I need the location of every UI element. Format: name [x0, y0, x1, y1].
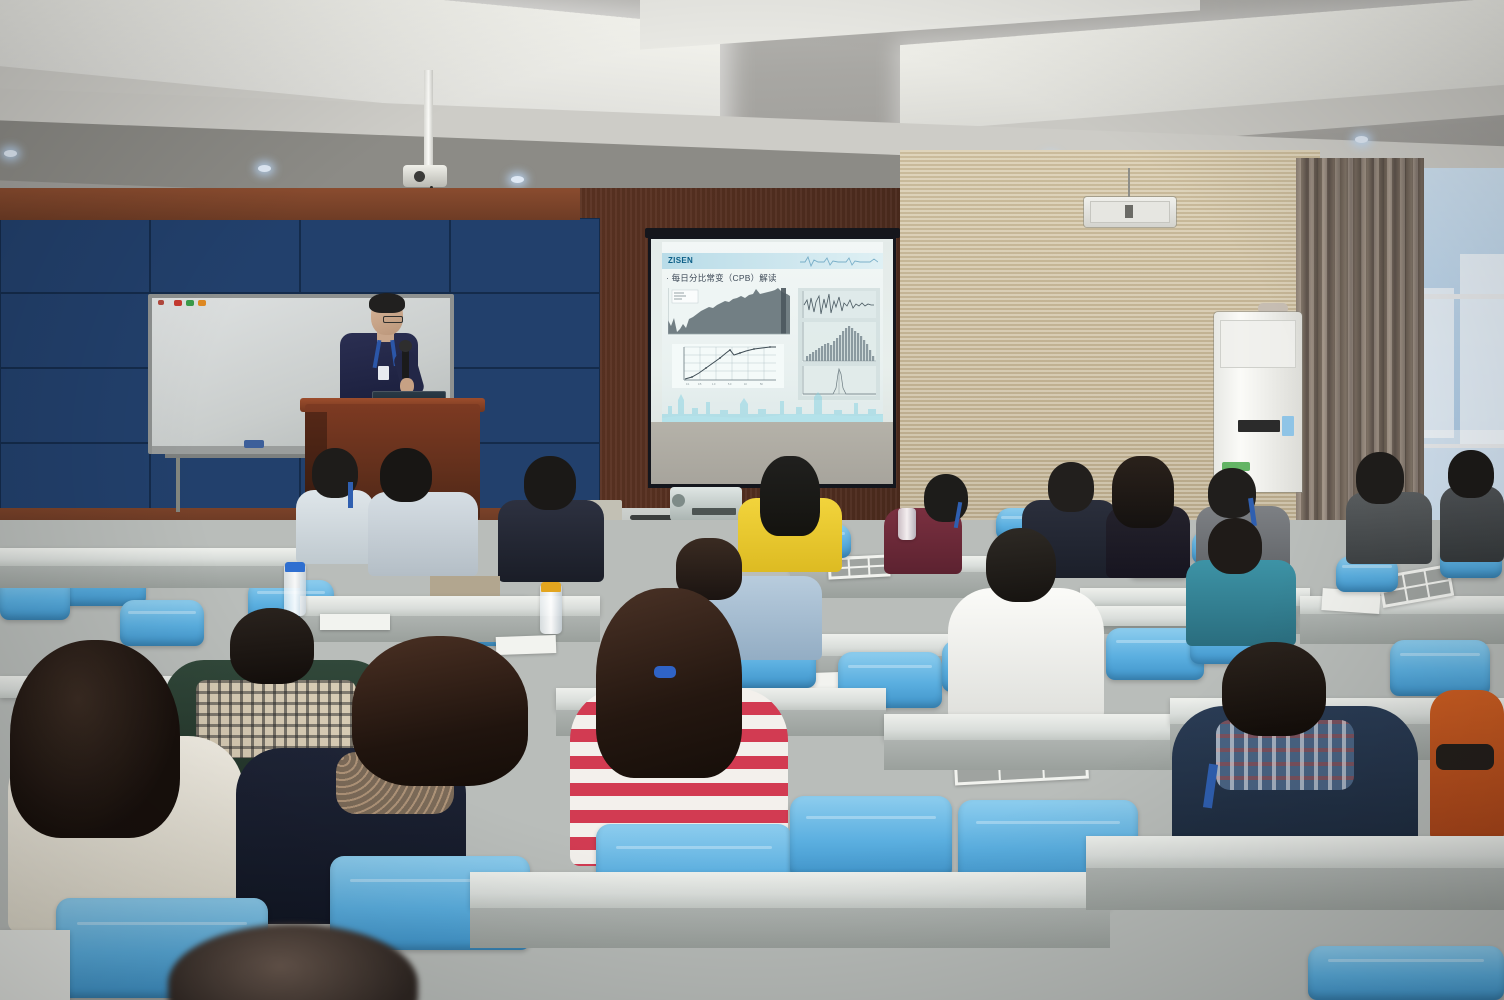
ac-vent-grille	[1220, 320, 1296, 368]
camera-lens-icon	[414, 171, 425, 182]
downlight-icon	[258, 165, 271, 172]
wall-speaker-label	[1125, 205, 1133, 218]
lanyard	[348, 482, 353, 508]
audience-member-white-polo	[948, 588, 1104, 720]
audience-head	[524, 456, 576, 510]
desk	[0, 548, 300, 566]
presenter-hair	[369, 293, 405, 313]
desk-front-panel	[1086, 868, 1504, 910]
audience-hair-long	[596, 588, 742, 778]
downlight-icon	[4, 150, 17, 157]
handout	[496, 635, 557, 655]
ac-energy-label	[1282, 416, 1294, 436]
water-bottle	[898, 508, 916, 540]
speaker-wire	[1128, 168, 1130, 198]
lecture-hall-photo: ZISEN · 每日分比常变（CPB）解读	[0, 0, 1504, 1000]
audience-hair	[760, 456, 820, 536]
audience-hair-curly	[10, 640, 180, 838]
shoulder-bag	[1436, 744, 1494, 770]
whiteboard-leg	[176, 454, 180, 512]
microphone-head-icon	[399, 340, 412, 352]
slide-skyline-graphic	[662, 388, 883, 422]
chair	[1390, 640, 1490, 696]
slide-header-waveform-icon	[800, 255, 878, 267]
projector-lens-icon	[672, 494, 685, 507]
whiteboard-eraser	[244, 440, 264, 448]
desk	[1086, 836, 1504, 868]
camera-mount-pole	[424, 70, 433, 170]
desk-front-panel	[0, 566, 300, 588]
desk	[470, 872, 1110, 908]
slide-chart-top-left	[668, 288, 790, 336]
marker-icon	[158, 300, 164, 305]
audience-head	[230, 608, 314, 684]
downlight-icon	[511, 176, 524, 183]
marker-orange-icon	[198, 300, 206, 306]
chair	[790, 796, 952, 878]
audience-hair	[1112, 456, 1174, 528]
badge	[378, 366, 389, 380]
chair	[120, 600, 204, 646]
audience-head	[986, 528, 1056, 602]
audience-head	[1208, 518, 1262, 574]
audience-head	[924, 474, 968, 522]
ceiling-camera-icon	[403, 165, 447, 187]
audience-hair	[352, 636, 528, 786]
hair-tie-icon	[654, 666, 676, 678]
marker-red-icon	[174, 300, 182, 306]
audience-head	[1048, 462, 1094, 512]
slide-chart-bottom-left: 0.10.51.0 5.01050	[672, 344, 784, 388]
desk	[884, 714, 1214, 740]
desk-front-panel	[884, 740, 1214, 770]
audience-head	[1356, 452, 1404, 504]
desk	[0, 930, 70, 1000]
audience-member-dark	[498, 500, 604, 582]
chair	[1308, 946, 1504, 1000]
audience-head	[380, 448, 432, 502]
slide-bullet-text: · 每日分比常变（CPB）解读	[666, 272, 777, 284]
audience-member-lightshirt	[368, 492, 478, 576]
bottle-cap-icon	[285, 562, 305, 572]
audience-member-lightblue	[296, 490, 374, 564]
wood-trim-upper	[0, 188, 580, 220]
slide-chart-right-panel	[798, 288, 880, 400]
slide-logo: ZISEN	[668, 256, 693, 265]
audience-head	[1222, 642, 1326, 736]
bottle-cap-icon	[541, 582, 561, 592]
desk-front-panel	[470, 908, 1110, 948]
downlight-icon	[1355, 136, 1368, 143]
audience-head	[1448, 450, 1494, 498]
marker-green-icon	[186, 300, 194, 306]
eyeglasses-icon	[383, 316, 403, 323]
ac-display-panel	[1238, 420, 1280, 432]
handout	[320, 614, 390, 630]
projector-vent	[692, 508, 736, 515]
